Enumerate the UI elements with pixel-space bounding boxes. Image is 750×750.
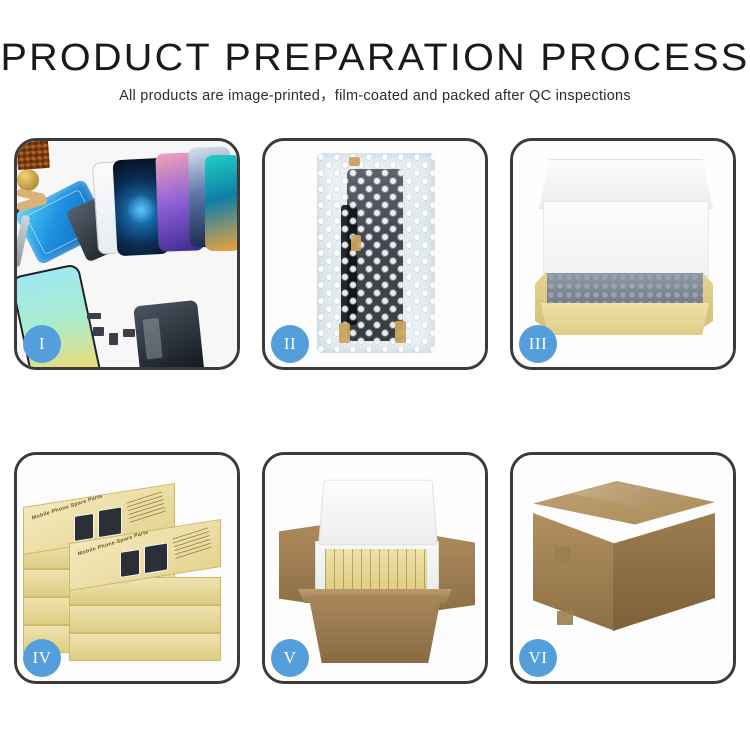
box-stack: Mobile Phone Spare Parts Mobile Phone Sp…	[21, 469, 235, 669]
page-subtitle: All products are image-printed，film-coat…	[0, 87, 750, 105]
process-step-3: III	[510, 138, 736, 370]
process-step-4: Mobile Phone Spare Parts Mobile Phone Sp…	[14, 452, 240, 684]
small-part-b	[109, 333, 118, 345]
bubble-wrapped-contents	[547, 273, 703, 305]
box-front-panel	[541, 303, 709, 335]
process-step-1: I	[14, 138, 240, 370]
carton-tape-upper	[555, 547, 571, 563]
step-numeral-3: III	[529, 334, 547, 354]
bubble-wrap-bag	[317, 153, 435, 353]
step-numeral-5: V	[284, 648, 297, 668]
page-title: PRODUCT PREPARATION PROCESS	[0, 36, 750, 80]
process-step-5: V	[262, 452, 488, 684]
step-numeral-2: II	[284, 334, 296, 354]
tape-bottom-left	[339, 323, 350, 343]
phone-back-housing	[133, 300, 205, 367]
process-step-6: VI	[510, 452, 736, 684]
yellow-boxes-inside	[325, 549, 427, 591]
carton-tape-lower	[557, 611, 573, 625]
box-spec-lines-back	[127, 491, 166, 523]
box-art-phone-f1	[120, 549, 140, 578]
stacked-box-fr-2	[69, 605, 221, 633]
process-step-2: II	[262, 138, 488, 370]
box-art-phone-b1	[74, 513, 94, 542]
tape-middle	[351, 235, 361, 251]
carton-left-face	[533, 513, 615, 631]
tape-top	[349, 157, 360, 166]
box-art-phone-b2	[98, 506, 122, 538]
carton-front-panel	[301, 595, 449, 663]
foam-box-lid	[318, 480, 438, 546]
bubble-texture	[317, 153, 435, 353]
process-grid: I II	[14, 138, 736, 690]
foam-lining	[543, 201, 709, 277]
step-badge-1: I	[23, 325, 61, 363]
step-badge-5: V	[271, 639, 309, 677]
step-badge-3: III	[519, 325, 557, 363]
step-numeral-4: IV	[33, 648, 52, 668]
step-badge-2: II	[271, 325, 309, 363]
box-art-phone-f2	[144, 542, 168, 574]
header: PRODUCT PREPARATION PROCESS All products…	[0, 36, 750, 105]
small-part-d	[87, 313, 101, 319]
small-part-a	[93, 327, 104, 336]
box-spec-lines-front	[173, 527, 212, 559]
step-numeral-1: I	[39, 334, 45, 354]
step-numeral-6: VI	[529, 648, 548, 668]
step-badge-4: IV	[23, 639, 61, 677]
phone-screen-teal	[205, 155, 237, 251]
small-part-c	[123, 329, 135, 337]
carton-right-face	[613, 513, 715, 631]
stacked-box-fr-3	[69, 633, 221, 661]
screw-parts-grid	[17, 141, 50, 170]
infographic-page: PRODUCT PREPARATION PROCESS All products…	[0, 0, 750, 750]
step-badge-6: VI	[519, 639, 557, 677]
tape-bottom-right	[395, 321, 406, 343]
